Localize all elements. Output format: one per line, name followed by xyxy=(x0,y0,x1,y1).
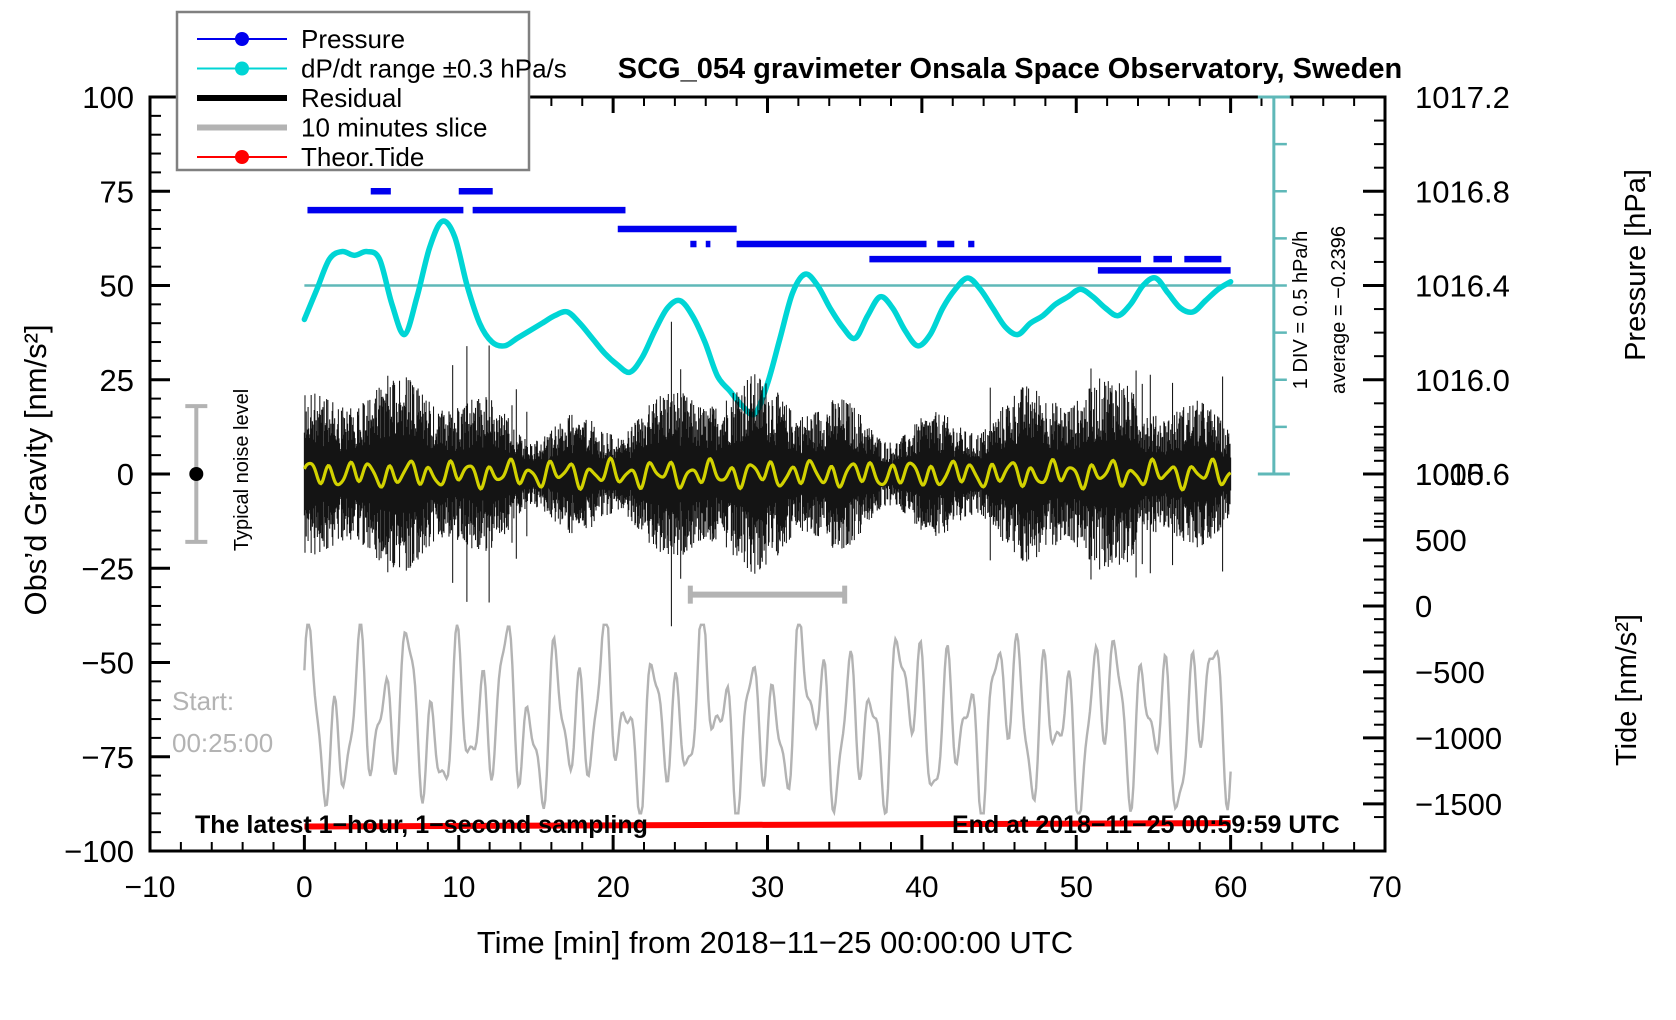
tide-axis-label: Tide [nm/s²] xyxy=(1611,614,1643,766)
legend-label-2: Residual xyxy=(301,83,402,113)
x-tick-label: 40 xyxy=(905,871,938,904)
legend: PressuredP/dt range ±0.3 hPa/sResidual10… xyxy=(177,12,567,172)
pressure-tick-label: 1016.4 xyxy=(1415,269,1510,304)
tide-tick-label: −1500 xyxy=(1415,787,1502,822)
legend-label-3: 10 minutes slice xyxy=(301,113,487,143)
y-tick-label: 25 xyxy=(100,363,134,398)
bottom-left-note: The latest 1−hour, 1−second sampling xyxy=(195,811,648,839)
x-tick-label: −10 xyxy=(125,871,176,904)
legend-label-0: Pressure xyxy=(301,24,405,54)
x-tick-label: 30 xyxy=(751,871,784,904)
x-tick-label: 50 xyxy=(1060,871,1093,904)
y-tick-label: 0 xyxy=(117,457,134,492)
y-left-axis-label: Obs’d Gravity [nm/s²] xyxy=(18,324,53,615)
noise-center-dot xyxy=(189,467,203,481)
page-title: SCG_054 gravimeter Onsala Space Observat… xyxy=(618,53,1402,85)
x-tick-label: 10 xyxy=(442,871,475,904)
y-tick-label: 75 xyxy=(100,174,134,209)
tide-tick-label: 0 xyxy=(1415,589,1432,624)
legend-marker-1 xyxy=(235,62,249,76)
gravimeter-chart: −10010203040506070 1007550250−25−50−75−1… xyxy=(0,0,1676,1020)
start-time: 00:25:00 xyxy=(172,728,273,758)
div-annotation: 1 DIV = 0.5 hPa/h xyxy=(1290,231,1312,389)
pressure-tick-label: 1016.0 xyxy=(1415,363,1510,398)
legend-label-1: dP/dt range ±0.3 hPa/s xyxy=(301,54,567,84)
y-tick-label: 50 xyxy=(100,269,134,304)
x-tick-label: 70 xyxy=(1368,871,1401,904)
noise-level-label: Typical noise level xyxy=(231,389,253,551)
tide-tick-label: 500 xyxy=(1415,523,1467,558)
legend-label-4: Theor.Tide xyxy=(301,142,424,172)
y-tick-label: −50 xyxy=(81,646,134,681)
tide-tick-label: 1000 xyxy=(1415,457,1484,492)
x-tick-label: 60 xyxy=(1214,871,1247,904)
pressure-axis-label: Pressure [hPa] xyxy=(1620,169,1652,361)
pressure-tick-label: 1017.2 xyxy=(1415,80,1510,115)
average-annotation: average = −0.2396 xyxy=(1328,226,1350,394)
y-tick-label: −75 xyxy=(81,740,134,775)
pressure-tick-label: 1016.8 xyxy=(1415,174,1510,209)
tide-tick-label: −1000 xyxy=(1415,721,1502,756)
x-tick-label: 0 xyxy=(296,871,313,904)
bottom-right-note: End at 2018−11−25 00:59:59 UTC xyxy=(952,811,1340,839)
y-tick-label: 100 xyxy=(82,80,134,115)
x-axis-label: Time [min] from 2018−11−25 00:00:00 UTC xyxy=(477,925,1073,960)
y-tick-label: −25 xyxy=(81,551,134,586)
y-tick-label: −100 xyxy=(64,834,134,869)
tide-tick-label: −500 xyxy=(1415,655,1485,690)
legend-marker-0 xyxy=(235,32,249,46)
legend-marker-4 xyxy=(235,150,249,164)
chart-root: −10010203040506070 1007550250−25−50−75−1… xyxy=(0,0,1676,1020)
start-label: Start: xyxy=(172,686,234,716)
x-tick-label: 20 xyxy=(596,871,629,904)
